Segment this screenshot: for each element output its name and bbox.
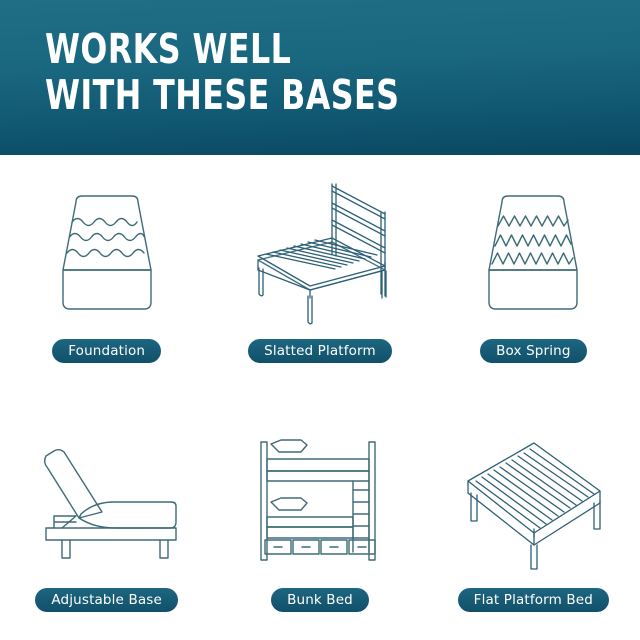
base-label-slatted-platform[interactable]: Slatted Platform xyxy=(248,339,392,363)
page-title: WORKS WELL WITH THESE BASES xyxy=(45,26,399,118)
base-card-flat-platform-bed[interactable]: Flat Platform Bed xyxy=(427,398,640,640)
adjustable-base-illustration xyxy=(0,398,213,586)
slatted-platform-illustration xyxy=(213,155,426,337)
base-label-bunk-bed[interactable]: Bunk Bed xyxy=(271,588,369,612)
header-banner: WORKS WELL WITH THESE BASES xyxy=(0,0,640,155)
base-card-adjustable-base[interactable]: Adjustable Base xyxy=(0,398,213,640)
base-label-foundation[interactable]: Foundation xyxy=(52,339,161,363)
base-card-slatted-platform[interactable]: Slatted Platform xyxy=(213,155,426,398)
flat-platform-bed-icon xyxy=(468,443,600,569)
box-spring-icon xyxy=(489,196,577,309)
bunk-bed-illustration xyxy=(213,398,426,586)
base-card-foundation[interactable]: Foundation xyxy=(0,155,213,398)
base-label-adjustable-base[interactable]: Adjustable Base xyxy=(35,588,178,612)
flat-platform-bed-illustration xyxy=(427,398,640,586)
box-spring-illustration xyxy=(427,155,640,337)
slatted-platform-bed-icon xyxy=(258,184,386,324)
base-card-bunk-bed[interactable]: Bunk Bed xyxy=(213,398,426,640)
adjustable-base-icon xyxy=(45,449,176,557)
base-label-flat-platform-bed[interactable]: Flat Platform Bed xyxy=(458,588,609,612)
works-well-with-these-bases-graphic: WORKS WELL WITH THESE BASES xyxy=(0,0,640,640)
bunk-bed-icon xyxy=(261,440,375,560)
base-label-box-spring[interactable]: Box Spring xyxy=(480,339,586,363)
bases-grid: Foundation xyxy=(0,155,640,640)
base-card-box-spring[interactable]: Box Spring xyxy=(427,155,640,398)
foundation-illustration xyxy=(0,155,213,337)
foundation-mattress-icon xyxy=(63,196,151,309)
